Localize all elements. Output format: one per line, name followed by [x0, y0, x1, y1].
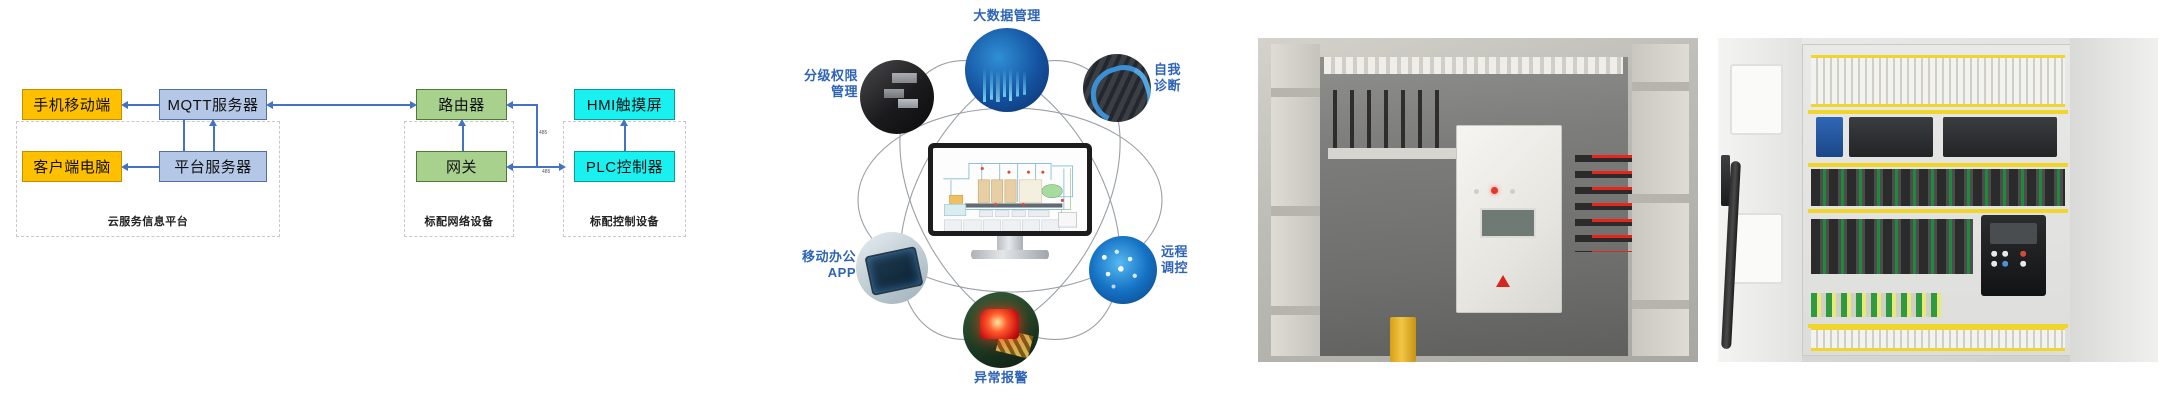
wire-duct-relay [1808, 209, 2068, 213]
group-caption-network: 标配网络设备 [404, 213, 514, 229]
monitor-neck [997, 236, 1023, 252]
connector-485-to-gateway [512, 166, 537, 168]
arrow-up-to-mqtt [209, 119, 217, 126]
cabinet-door-panel [1718, 38, 1802, 362]
high-voltage-warning-label [1496, 275, 1510, 287]
cabinet-backplate [1802, 44, 2075, 355]
big-data-icon [965, 28, 1049, 112]
capability-label-self-diagnosis: 自我 诊断 [1154, 62, 1216, 95]
node-gateway[interactable]: 网关 [416, 151, 507, 182]
arrow-up-to-hmi [620, 119, 628, 126]
door-hinge-lower-left [1271, 306, 1319, 315]
stethoscope-icon [1083, 54, 1151, 122]
hmi-display [1480, 208, 1536, 238]
vfd-display [1990, 223, 2037, 244]
arrow-left-to-mqtt [266, 101, 273, 109]
node-router[interactable]: 路由器 [416, 89, 507, 120]
cabinet-door-right-open [2070, 38, 2158, 362]
door-hinge-mid-left [1271, 206, 1319, 215]
circuit-breaker-row [1811, 55, 2066, 108]
scada-mimic-diagram [933, 148, 1087, 231]
capability-orbit-infographic: 大数据管理 自我 诊断 远程 调控 异常报警 移动办公 APP 分级权限 管理 [760, 0, 1260, 400]
tablet-app-icon [856, 232, 928, 304]
arrow-to-mobile [121, 101, 128, 109]
alarm-beacon-icon [963, 292, 1039, 368]
node-platform-server[interactable]: 平台服务器 [159, 151, 267, 182]
arrow-right-to-plc [559, 163, 566, 171]
cabinet-door-right [1632, 44, 1689, 355]
door-cutout-lower [1730, 213, 1784, 284]
remote-network-icon [1089, 236, 1157, 304]
outdoor-equipment-cabinet-photo [1258, 38, 1698, 362]
arrow-up-to-router [458, 119, 466, 126]
node-desktop-client[interactable]: 客户端电脑 [22, 151, 122, 182]
wire-duct-upper [1808, 110, 2068, 114]
plc-control-cabinet-photo [1718, 38, 2158, 362]
contactor-row [1811, 219, 1973, 275]
plc-module [1849, 117, 1933, 157]
capability-label-mobile-app: 移动办公 APP [772, 249, 856, 282]
power-supply [1816, 117, 1843, 157]
valve-manifold [1333, 90, 1447, 155]
monitor-bezel [928, 143, 1092, 236]
arrow-to-client [121, 163, 128, 171]
yellow-bollard [1390, 317, 1416, 362]
screenshot-canvas: 云服务信息平台 标配网络设备 标配控制设备 485 485 [0, 0, 2160, 400]
access-levels-icon [860, 60, 934, 134]
capability-label-bigdata: 大数据管理 [937, 8, 1077, 24]
monitor-base [971, 250, 1050, 259]
connector-485-riser [536, 104, 538, 167]
vfd-drive [1981, 215, 2046, 295]
arrow-left-to-router-485 [506, 101, 513, 109]
terminal-blocks [1811, 293, 1941, 318]
edge-label-485-lower: 485 [542, 169, 550, 175]
connector-mqtt-router [272, 104, 412, 106]
red-valve-handles [1592, 155, 1632, 252]
capability-label-alarm: 异常报警 [933, 370, 1069, 386]
cabinet-door-left [1271, 44, 1319, 355]
node-mobile-client[interactable]: 手机移动端 [22, 89, 122, 120]
arrow-left-to-gateway-485 [506, 163, 513, 171]
door-hinge-upper-right [1632, 82, 1689, 91]
monitor-screen [933, 148, 1087, 231]
desktop-monitor-icon [928, 143, 1092, 265]
capability-label-permission: 分级权限 管理 [772, 68, 858, 101]
door-hinge-mid-right [1632, 194, 1689, 203]
indicator-lamp-right [1510, 189, 1515, 194]
relay-row [1811, 169, 2066, 206]
wire-duct-mid [1808, 163, 2068, 167]
connector-485-to-router [512, 104, 537, 106]
edge-label-485-upper: 485 [539, 130, 547, 136]
node-hmi-touch-panel[interactable]: HMI触摸屏 [574, 89, 675, 120]
door-hinge-lower-right [1632, 300, 1689, 309]
node-plc-controller[interactable]: PLC控制器 [574, 151, 675, 182]
connector-485-to-plc [536, 166, 560, 168]
group-caption-control: 标配控制设备 [563, 213, 686, 229]
vfd-keypad [1988, 249, 2040, 270]
node-mqtt-server[interactable]: MQTT服务器 [159, 89, 267, 120]
system-architecture-block-diagram: 云服务信息平台 标配网络设备 标配控制设备 485 485 [0, 0, 760, 400]
door-hinge-upper-left [1271, 88, 1319, 97]
lower-terminal-row [1811, 327, 2066, 352]
door-cutout-upper [1730, 64, 1784, 135]
capability-label-remote-control: 远程 调控 [1161, 244, 1223, 277]
plc-expansion-module [1943, 117, 2057, 157]
valve-mount-bar [1328, 148, 1456, 159]
cabinet-top-louver [1324, 57, 1623, 73]
group-caption-cloud: 云服务信息平台 [16, 213, 280, 229]
